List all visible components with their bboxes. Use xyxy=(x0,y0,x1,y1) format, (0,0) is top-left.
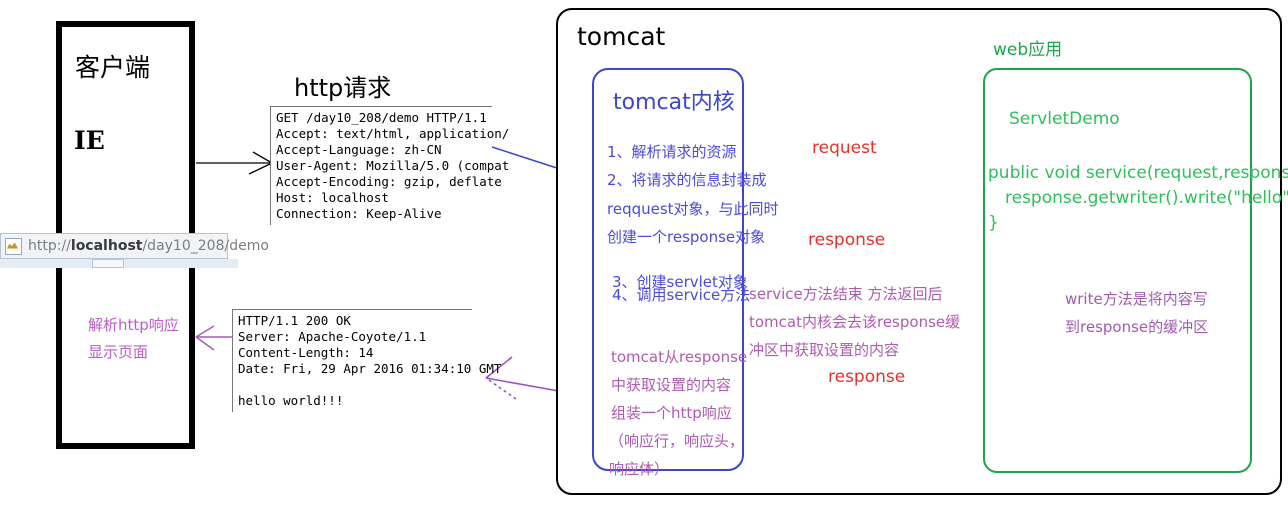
url-host: localhost xyxy=(71,238,143,254)
kernel-response-note-5: 响应体） xyxy=(609,462,669,477)
diagram-canvas: 客户端 IE http://localhost/day10_208/demo 解… xyxy=(0,0,1288,515)
middle-note-line-1: service方法结束 方法返回后 xyxy=(749,287,943,302)
browser-address-bar[interactable]: http://localhost/day10_208/demo xyxy=(0,233,228,259)
tomcat-title: tomcat xyxy=(577,24,665,49)
kernel-step-2-cont-1: reqquest对象，与此同时 xyxy=(607,202,779,217)
response-buffer-label: response xyxy=(828,369,905,386)
write-note-line-1: write方法是将内容写 xyxy=(1065,292,1208,307)
web-app-label: web应用 xyxy=(993,42,1062,59)
arrow-response-to-client xyxy=(196,326,232,350)
kernel-response-note-2: 中获取设置的内容 xyxy=(611,378,731,393)
kernel-response-note-3: 组装一个http响应 xyxy=(611,406,732,421)
kernel-step-2: 2、将请求的信息封装成 xyxy=(607,173,767,188)
middle-note-line-3: 冲区中获取设置的内容 xyxy=(749,343,899,358)
servlet-code-line-3: } xyxy=(988,215,999,232)
client-browser-label: IE xyxy=(74,128,105,153)
url-path: /day10_208/demo xyxy=(142,238,268,254)
browser-toolbar-button[interactable] xyxy=(92,259,124,268)
servlet-code-line-1: public void service(request,response){ xyxy=(988,165,1288,182)
kernel-step-2-cont-2: 创建一个response对象 xyxy=(607,230,765,245)
http-request-block: GET /day10_208/demo HTTP/1.1 Accept: tex… xyxy=(270,106,492,225)
client-note-line-2: 显示页面 xyxy=(88,345,148,360)
kernel-step-1: 1、解析请求的资源 xyxy=(607,145,737,160)
response-object-label: response xyxy=(808,232,885,249)
http-response-block: HTTP/1.1 200 OK Server: Apache-Coyote/1.… xyxy=(232,309,472,412)
kernel-response-note-1: tomcat从response xyxy=(611,350,747,365)
client-note-line-1: 解析http响应 xyxy=(88,318,179,333)
write-note-line-2: 到response的缓冲区 xyxy=(1065,320,1208,335)
page-icon xyxy=(5,238,22,255)
address-bar-url[interactable]: http://localhost/day10_208/demo xyxy=(28,238,269,254)
kernel-step-4: 4、调用service方法 xyxy=(612,288,750,303)
request-object-label: request xyxy=(812,140,877,157)
servlet-code-line-2: response.getwriter().write("hello") xyxy=(1005,190,1288,207)
http-request-title: http请求 xyxy=(294,76,391,100)
arrow-client-to-request xyxy=(196,152,272,174)
kernel-response-note-4: （响应行，响应头， xyxy=(609,434,744,449)
client-title: 客户端 xyxy=(75,55,150,80)
url-prefix: http:// xyxy=(28,238,71,254)
servlet-name: ServletDemo xyxy=(1009,111,1120,128)
middle-note-line-2: tomcat内核会去该response缓 xyxy=(749,315,960,330)
tomcat-kernel-title: tomcat内核 xyxy=(613,92,735,114)
